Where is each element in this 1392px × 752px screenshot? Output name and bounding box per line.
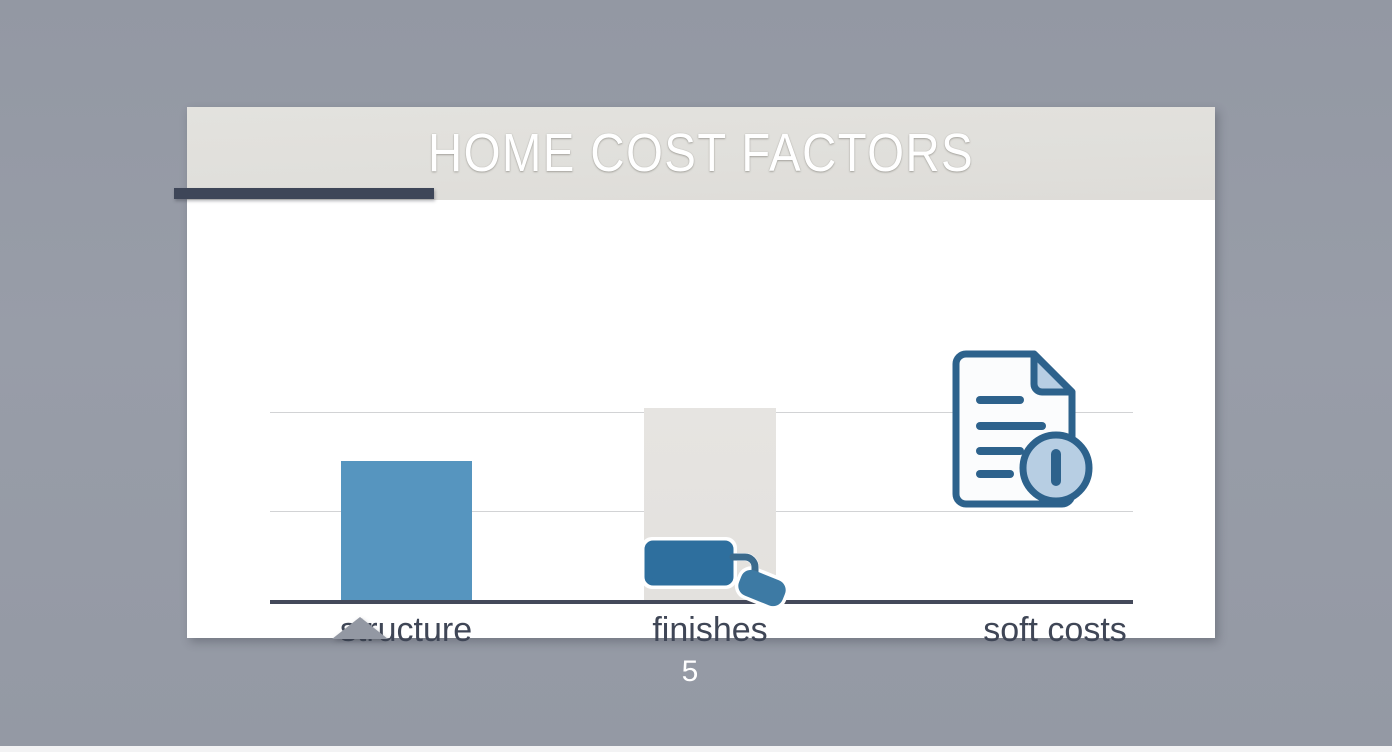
accent-bar: [174, 188, 434, 199]
page-number: 5: [648, 655, 732, 689]
card-bottom-notch: [332, 617, 388, 639]
bottom-strip: [0, 746, 1392, 752]
slide-card: HOME COST FACTORS: [187, 107, 1215, 638]
card-header: HOME COST FACTORS: [187, 107, 1215, 200]
category-label-finishes: finishes: [595, 605, 825, 655]
document-clock-icon: [942, 348, 1102, 508]
bar-structure: [341, 461, 472, 600]
category-label-structure: structure: [291, 605, 521, 655]
slide-stage: HOME COST FACTORS: [0, 0, 1392, 752]
bar-chart: structure finishes soft costs: [187, 200, 1215, 638]
paint-roller-icon: [639, 535, 789, 607]
page-title: HOME COST FACTORS: [249, 123, 1154, 183]
category-label-soft-costs: soft costs: [895, 605, 1215, 655]
